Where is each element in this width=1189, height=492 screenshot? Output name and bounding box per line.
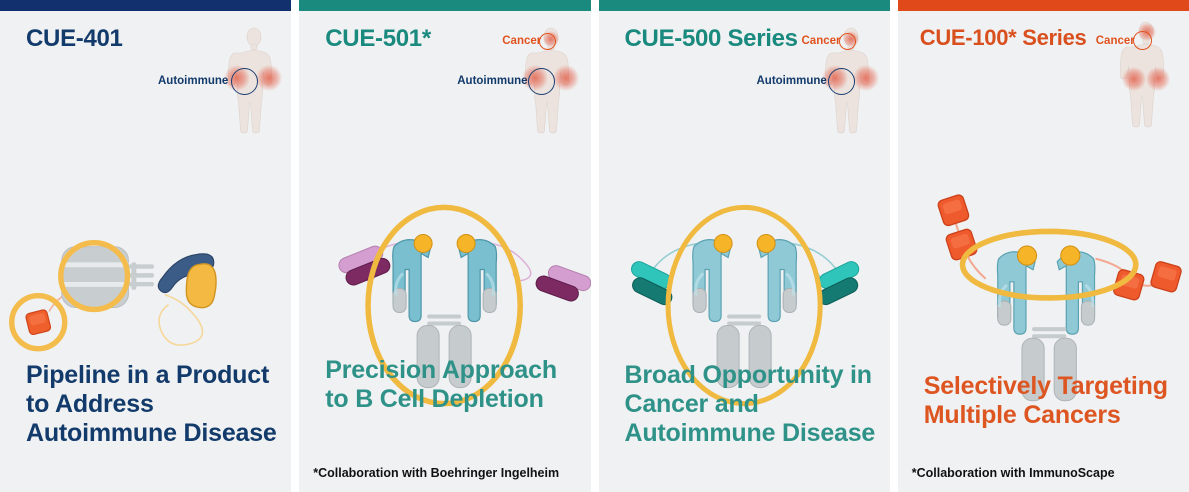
autoimmune-hotspot-ring (231, 68, 258, 95)
panel-footnote: *Collaboration with Boehringer Ingelheim (313, 466, 559, 480)
page-title: CUE-500 Series (625, 25, 798, 53)
panel-accent-bar (599, 0, 890, 11)
autoimmune-label: Autoimmune (158, 75, 228, 87)
pipeline-panel-row: CUE-401 Autoimmune (0, 0, 1189, 492)
page-title: CUE-401 (26, 25, 123, 53)
cancer-label: Cancer (502, 35, 541, 47)
panel-cue-401[interactable]: CUE-401 Autoimmune (0, 0, 291, 492)
panel-caption: Selectively Targeting Multiple Cancers (924, 372, 1175, 430)
panel-caption: Pipeline in a Product to Address Autoimm… (26, 361, 277, 448)
cancer-hotspot-ring (839, 33, 856, 50)
panel-caption: Broad Opportunity in Cancer and Autoimmu… (625, 361, 876, 448)
cancer-label: Cancer (802, 35, 841, 47)
panel-header: CUE-501* Cancer Autoimmune (299, 11, 590, 121)
panel-accent-bar (898, 0, 1189, 11)
cue100-molecule-graphic (898, 121, 1189, 492)
cue501-molecule-graphic (299, 121, 590, 492)
autoimmune-label: Autoimmune (457, 75, 527, 87)
panel-header: CUE-401 Autoimmune (0, 11, 291, 121)
panel-accent-bar (299, 0, 590, 11)
cancer-flare (1146, 67, 1170, 91)
molecule-illustration (898, 121, 1189, 492)
page-title: CUE-501* (325, 25, 431, 53)
panel-caption: Precision Approach to B Cell Depletion (325, 356, 576, 414)
panel-header: CUE-100* Series Cancer (898, 11, 1189, 121)
page-title: CUE-100* Series (920, 25, 1087, 51)
autoimmune-label: Autoimmune (757, 75, 827, 87)
panel-accent-bar (0, 0, 291, 11)
autoimmune-flare (256, 65, 282, 91)
panel-cue-501[interactable]: CUE-501* Cancer Autoimmune (299, 0, 590, 492)
panel-header: CUE-500 Series Cancer Autoimmune (599, 11, 890, 121)
panel-cue-100-series[interactable]: CUE-100* Series Cancer (898, 0, 1189, 492)
cancer-label: Cancer (1096, 35, 1135, 47)
panel-footnote: *Collaboration with ImmunoScape (912, 466, 1115, 480)
molecule-illustration (299, 121, 590, 492)
cancer-flare (1122, 67, 1146, 91)
panel-cue-500-series[interactable]: CUE-500 Series Cancer Autoimmune (599, 0, 890, 492)
autoimmune-hotspot-ring (828, 68, 855, 95)
autoimmune-flare (853, 65, 879, 91)
cancer-hotspot-ring (1133, 31, 1152, 50)
